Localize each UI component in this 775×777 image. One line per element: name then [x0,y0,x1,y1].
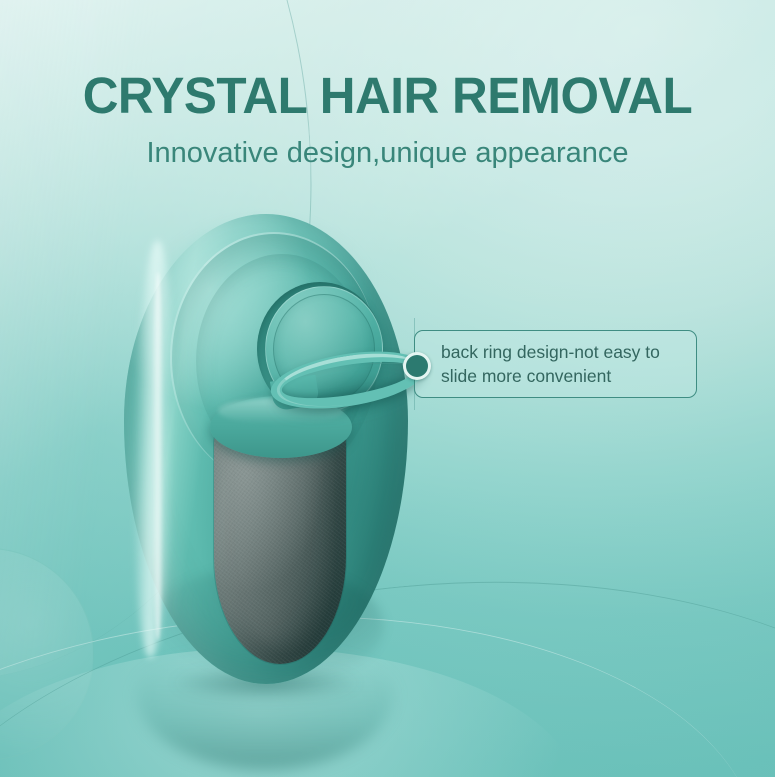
product-image [118,214,408,696]
product-rim-highlight-thin [152,272,164,640]
callout-leader-dot-icon [403,352,431,380]
feature-callout-box: back ring design-not easy to slide more … [414,330,697,398]
product-banner: CRYSTAL HAIR REMOVAL Innovative design,u… [0,0,775,777]
page-subtitle: Innovative design,unique appearance [0,136,775,170]
feature-callout-text: back ring design-not easy to slide more … [441,340,682,388]
page-title: CRYSTAL HAIR REMOVAL [12,68,764,124]
